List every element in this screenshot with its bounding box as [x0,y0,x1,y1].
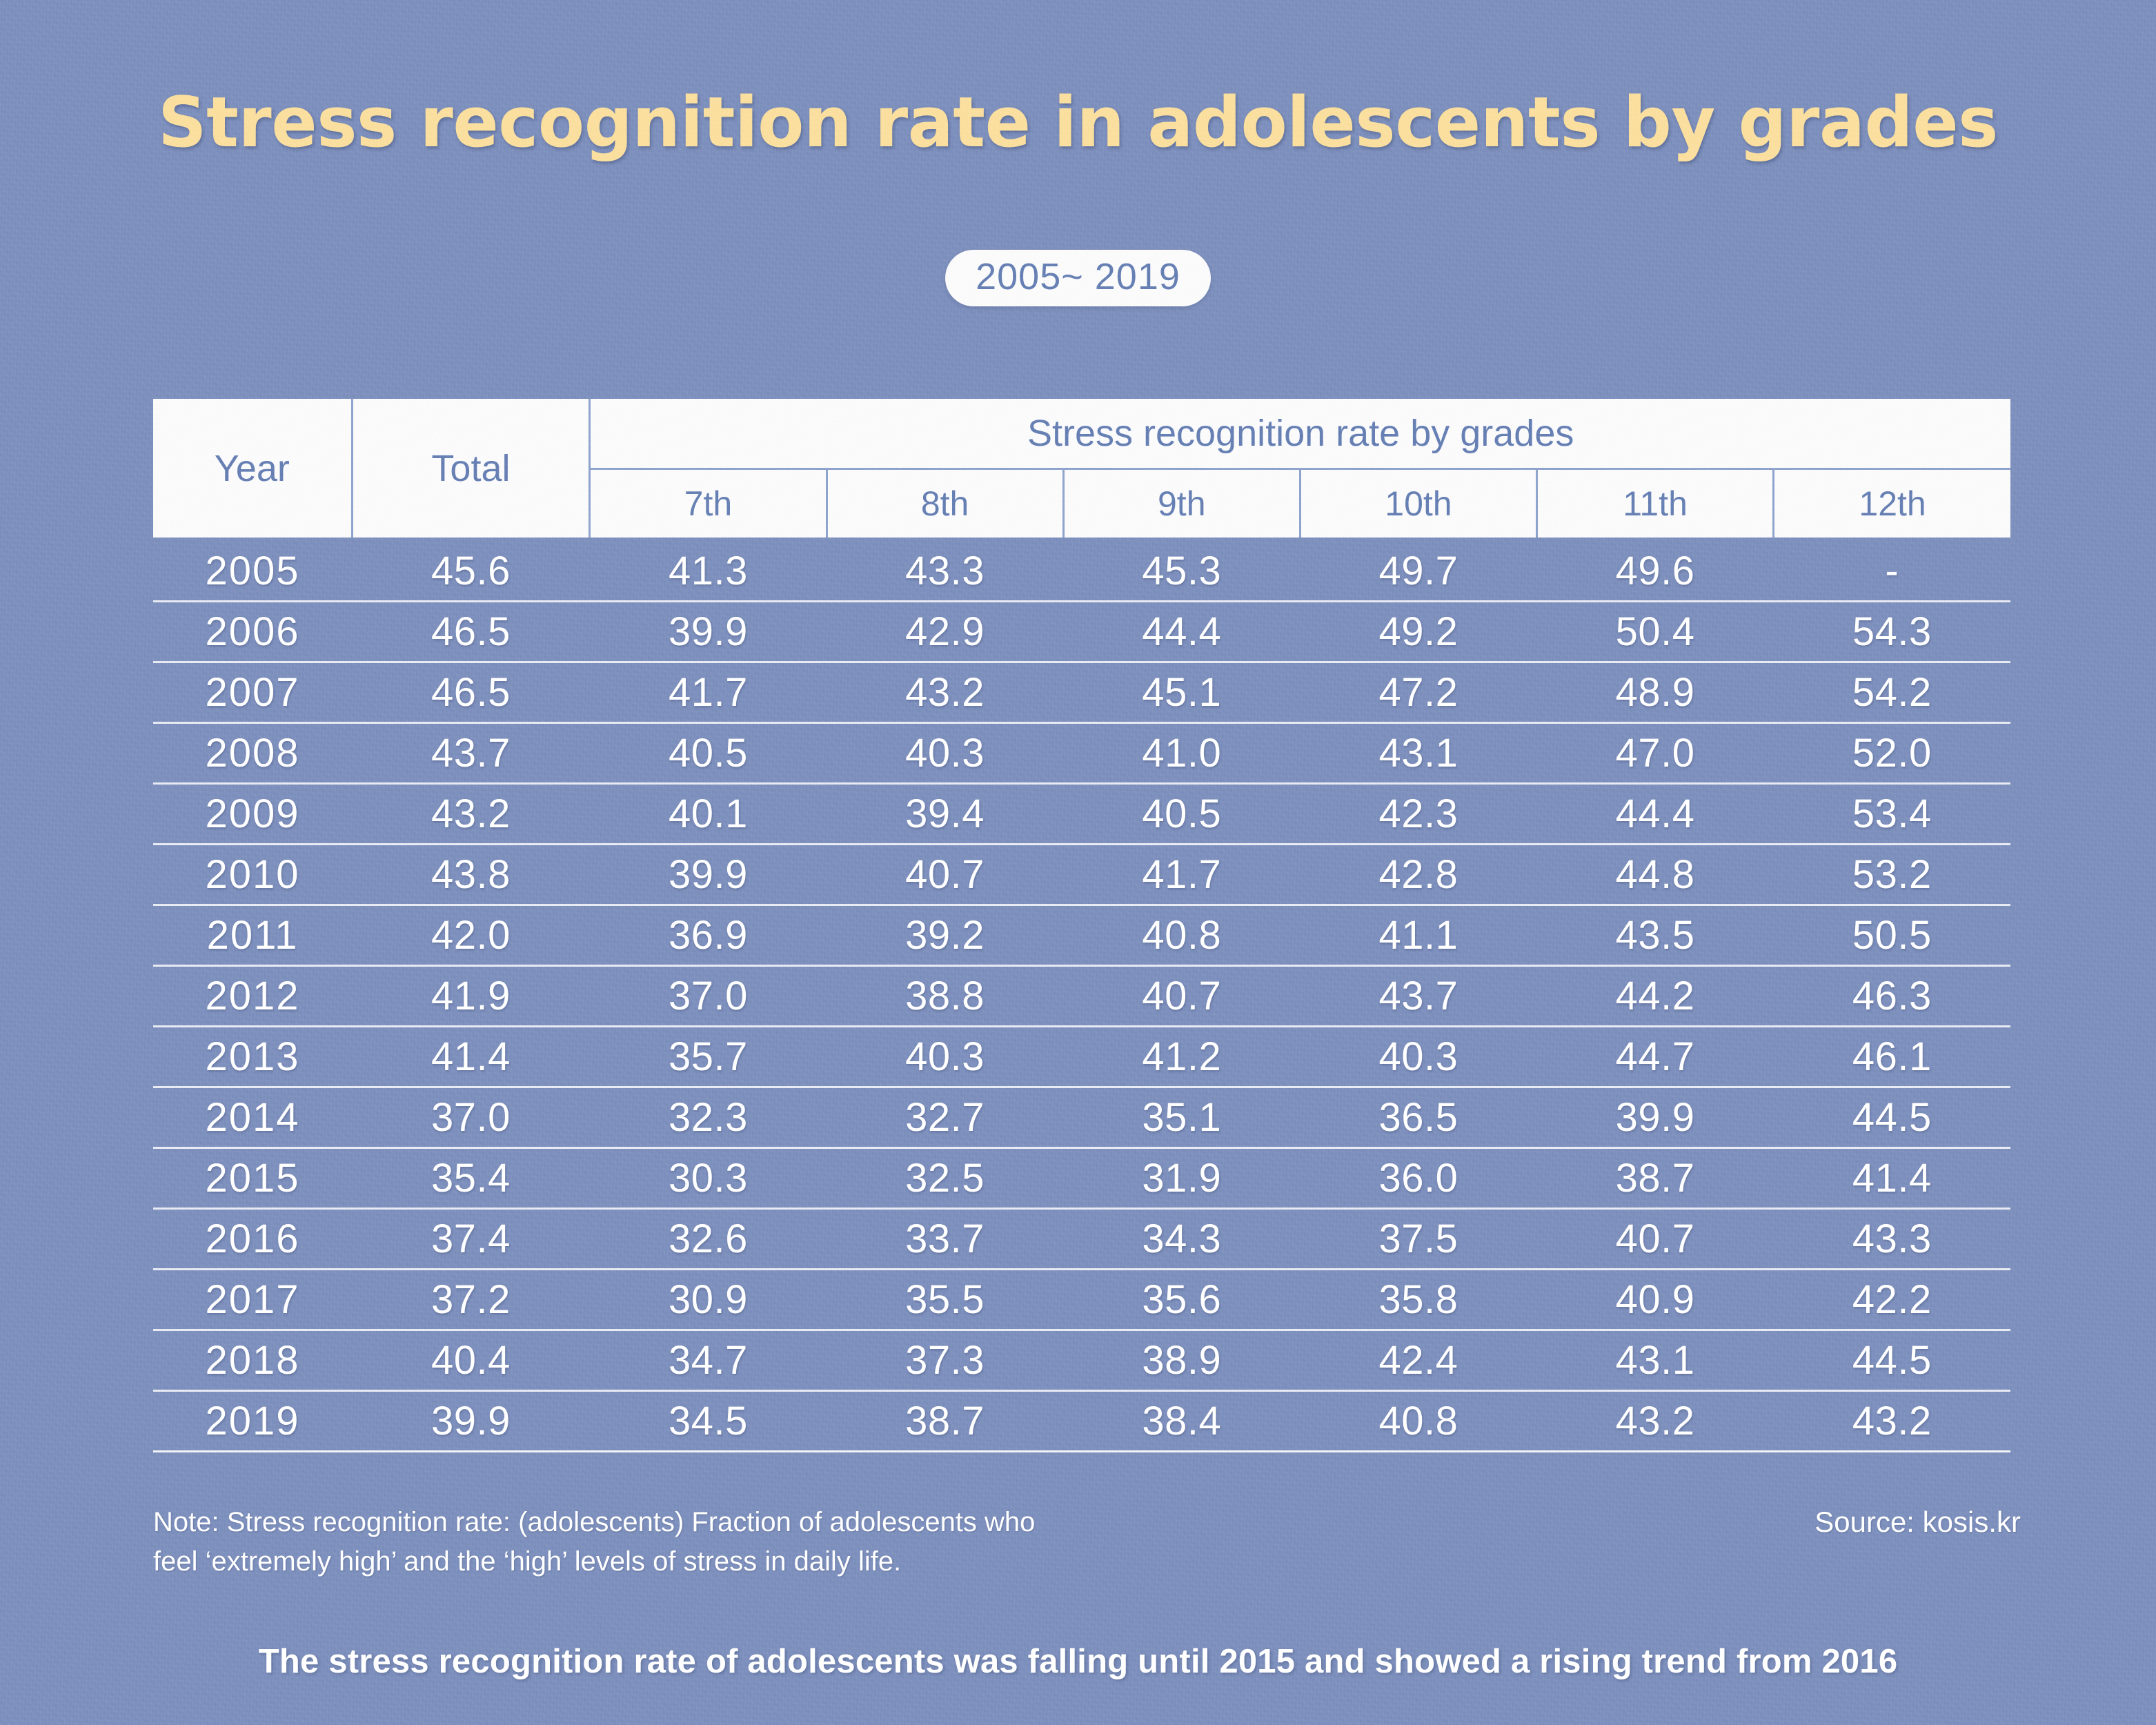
cell-grade-8th: 32.7 [827,1087,1063,1148]
cell-grade-7th: 37.0 [590,966,827,1027]
table-header: Year Total Stress recognition rate by gr… [153,399,2010,538]
cell-grade-7th: 39.9 [590,602,827,662]
cell-year: 2015 [153,1148,352,1209]
cell-total: 35.4 [352,1148,590,1209]
cell-grade-7th: 35.7 [590,1027,827,1087]
column-header-grade-8th[interactable]: 8th [827,469,1063,538]
cell-year: 2014 [153,1087,352,1148]
cell-grade-8th: 38.8 [827,966,1063,1027]
period-badge: 2005~ 2019 [945,250,1211,306]
cell-grade-10th: 43.7 [1300,966,1536,1027]
cell-grade-10th: 40.3 [1300,1027,1536,1087]
cell-total: 43.8 [352,845,590,905]
cell-grade-12th: 41.4 [1774,1148,2010,1209]
cell-grade-12th: 46.3 [1774,966,2010,1027]
cell-year: 2008 [153,723,352,784]
cell-grade-11th: 40.9 [1537,1270,1774,1330]
cell-grade-9th: 40.5 [1063,784,1300,845]
cell-total: 45.6 [352,538,590,602]
cell-grade-12th: 53.4 [1774,784,2010,845]
cell-grade-10th: 43.1 [1300,723,1536,784]
cell-grade-7th: 34.7 [590,1330,827,1391]
cell-grade-12th: 44.5 [1774,1087,2010,1148]
cell-year: 2016 [153,1209,352,1270]
cell-grade-9th: 35.1 [1063,1087,1300,1148]
table-row[interactable]: 201437.032.332.735.136.539.944.5 [153,1087,2010,1148]
cell-grade-7th: 40.5 [590,723,827,784]
cell-grade-11th: 44.4 [1537,784,1774,845]
cell-grade-8th: 38.7 [827,1391,1063,1452]
source-label: Source: kosis.kr [1814,1506,2021,1539]
cell-grade-7th: 39.9 [590,845,827,905]
period-badge-wrap: 2005~ 2019 [0,250,2156,306]
summary-caption: The stress recognition rate of adolescen… [0,1642,2156,1681]
cell-year: 2012 [153,966,352,1027]
cell-total: 37.2 [352,1270,590,1330]
page-title: Stress recognition rate in adolescents b… [32,81,2124,163]
cell-grade-12th: 44.5 [1774,1330,2010,1391]
cell-total: 42.0 [352,905,590,966]
cell-grade-12th: 52.0 [1774,723,2010,784]
cell-grade-12th: 50.5 [1774,905,2010,966]
cell-grade-9th: 41.2 [1063,1027,1300,1087]
cell-year: 2006 [153,602,352,662]
cell-grade-8th: 40.3 [827,723,1063,784]
cell-total: 46.5 [352,602,590,662]
cell-grade-12th: 43.3 [1774,1209,2010,1270]
cell-grade-12th: - [1774,538,2010,602]
cell-grade-11th: 40.7 [1537,1209,1774,1270]
table-row[interactable]: 200746.541.743.245.147.248.954.2 [153,662,2010,723]
cell-grade-11th: 38.7 [1537,1148,1774,1209]
cell-grade-12th: 42.2 [1774,1270,2010,1330]
cell-grade-11th: 44.7 [1537,1027,1774,1087]
footnote: Note: Stress recognition rate: (adolesce… [153,1503,1361,1581]
cell-grade-9th: 45.1 [1063,662,1300,723]
cell-grade-7th: 32.3 [590,1087,827,1148]
cell-grade-7th: 34.5 [590,1391,827,1452]
cell-grade-12th: 53.2 [1774,845,2010,905]
cell-grade-11th: 43.2 [1537,1391,1774,1452]
cell-grade-11th: 44.8 [1537,845,1774,905]
cell-grade-12th: 54.2 [1774,662,2010,723]
cell-total: 37.0 [352,1087,590,1148]
cell-grade-9th: 34.3 [1063,1209,1300,1270]
cell-grade-10th: 47.2 [1300,662,1536,723]
cell-total: 41.4 [352,1027,590,1087]
cell-grade-8th: 35.5 [827,1270,1063,1330]
table-row[interactable]: 200943.240.139.440.542.344.453.4 [153,784,2010,845]
cell-grade-9th: 41.0 [1063,723,1300,784]
cell-total: 46.5 [352,662,590,723]
column-header-grade-11th[interactable]: 11th [1537,469,1774,538]
cell-grade-8th: 32.5 [827,1148,1063,1209]
cell-grade-10th: 42.4 [1300,1330,1536,1391]
cell-grade-11th: 43.1 [1537,1330,1774,1391]
cell-grade-9th: 45.3 [1063,538,1300,602]
table-row[interactable]: 201939.934.538.738.440.843.243.2 [153,1391,2010,1452]
cell-grade-8th: 40.7 [827,845,1063,905]
data-table-block: Year Total Stress recognition rate by gr… [153,399,2010,1452]
column-header-grade-7th[interactable]: 7th [590,469,827,538]
cell-year: 2009 [153,784,352,845]
cell-grade-11th: 50.4 [1537,602,1774,662]
cell-grade-9th: 31.9 [1063,1148,1300,1209]
table-row[interactable]: 201535.430.332.531.936.038.741.4 [153,1148,2010,1209]
cell-grade-11th: 49.6 [1537,538,1774,602]
column-header-grade-9th[interactable]: 9th [1063,469,1300,538]
cell-year: 2007 [153,662,352,723]
cell-year: 2013 [153,1027,352,1087]
cell-grade-9th: 44.4 [1063,602,1300,662]
table-row[interactable]: 201142.036.939.240.841.143.550.5 [153,905,2010,966]
cell-total: 37.4 [352,1209,590,1270]
cell-grade-8th: 37.3 [827,1330,1063,1391]
table-row[interactable]: 200545.641.343.345.349.749.6- [153,538,2010,602]
cell-grade-8th: 43.2 [827,662,1063,723]
cell-grade-8th: 39.2 [827,905,1063,966]
cell-grade-10th: 49.2 [1300,602,1536,662]
cell-total: 41.9 [352,966,590,1027]
footnote-line-2: feel ‘extremely high’ and the ‘high’ lev… [153,1542,1361,1581]
cell-grade-7th: 30.3 [590,1148,827,1209]
table-row[interactable]: 201737.230.935.535.635.840.942.2 [153,1270,2010,1330]
cell-year: 2011 [153,905,352,966]
cell-grade-8th: 43.3 [827,538,1063,602]
cell-grade-7th: 30.9 [590,1270,827,1330]
cell-grade-11th: 43.5 [1537,905,1774,966]
table-row[interactable]: 200843.740.540.341.043.147.052.0 [153,723,2010,784]
cell-year: 2005 [153,538,352,602]
table-row[interactable]: 200646.539.942.944.449.250.454.3 [153,602,2010,662]
cell-grade-7th: 40.1 [590,784,827,845]
cell-grade-9th: 38.9 [1063,1330,1300,1391]
column-header-grade-10th[interactable]: 10th [1300,469,1536,538]
cell-grade-10th: 40.8 [1300,1391,1536,1452]
column-group-header-grades: Stress recognition rate by grades [590,399,2010,469]
cell-grade-11th: 47.0 [1537,723,1774,784]
cell-total: 43.7 [352,723,590,784]
table-row[interactable]: 201241.937.038.840.743.744.246.3 [153,966,2010,1027]
footnote-line-1: Note: Stress recognition rate: (adolesce… [153,1503,1361,1542]
cell-grade-7th: 32.6 [590,1209,827,1270]
cell-grade-7th: 36.9 [590,905,827,966]
cell-grade-10th: 35.8 [1300,1270,1536,1330]
cell-grade-9th: 40.8 [1063,905,1300,966]
cell-grade-8th: 33.7 [827,1209,1063,1270]
cell-grade-9th: 41.7 [1063,845,1300,905]
table-row[interactable]: 201043.839.940.741.742.844.853.2 [153,845,2010,905]
cell-year: 2017 [153,1270,352,1330]
cell-grade-8th: 39.4 [827,784,1063,845]
cell-year: 2019 [153,1391,352,1452]
cell-year: 2018 [153,1330,352,1391]
cell-grade-12th: 46.1 [1774,1027,2010,1087]
cell-grade-10th: 37.5 [1300,1209,1536,1270]
table-row[interactable]: 201341.435.740.341.240.344.746.1 [153,1027,2010,1087]
stress-rate-table: Year Total Stress recognition rate by gr… [153,399,2010,1452]
cell-grade-9th: 40.7 [1063,966,1300,1027]
table-row[interactable]: 201637.432.633.734.337.540.743.3 [153,1209,2010,1270]
cell-total: 39.9 [352,1391,590,1452]
cell-grade-7th: 41.3 [590,538,827,602]
column-header-year[interactable]: Year [153,399,352,538]
cell-grade-10th: 36.0 [1300,1148,1536,1209]
cell-grade-10th: 49.7 [1300,538,1536,602]
cell-grade-8th: 42.9 [827,602,1063,662]
table-row[interactable]: 201840.434.737.338.942.443.144.5 [153,1330,2010,1391]
cell-grade-10th: 42.8 [1300,845,1536,905]
cell-grade-9th: 35.6 [1063,1270,1300,1330]
cell-grade-10th: 42.3 [1300,784,1536,845]
cell-total: 40.4 [352,1330,590,1391]
cell-grade-7th: 41.7 [590,662,827,723]
cell-grade-9th: 38.4 [1063,1391,1300,1452]
cell-grade-10th: 36.5 [1300,1087,1536,1148]
cell-grade-12th: 54.3 [1774,602,2010,662]
cell-grade-11th: 44.2 [1537,966,1774,1027]
cell-grade-8th: 40.3 [827,1027,1063,1087]
column-header-grade-12th[interactable]: 12th [1774,469,2010,538]
column-header-total[interactable]: Total [352,399,590,538]
cell-total: 43.2 [352,784,590,845]
cell-year: 2010 [153,845,352,905]
cell-grade-10th: 41.1 [1300,905,1536,966]
cell-grade-11th: 48.9 [1537,662,1774,723]
cell-grade-11th: 39.9 [1537,1087,1774,1148]
cell-grade-12th: 43.2 [1774,1391,2010,1452]
table-body: 200545.641.343.345.349.749.6-200646.539.… [153,538,2010,1452]
